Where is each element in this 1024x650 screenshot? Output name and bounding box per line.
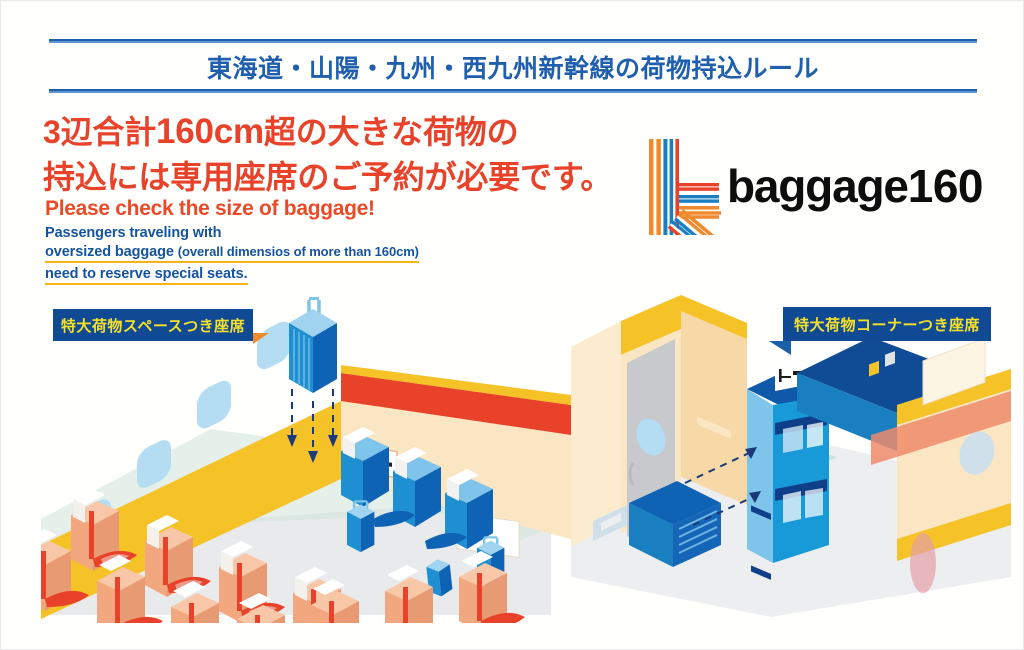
- header-rule-bottom: [49, 89, 977, 93]
- headline-line-1: 3辺合計160cm超の大きな荷物の: [43, 109, 612, 156]
- english-line-2: oversized baggage (overall dimensios of …: [45, 244, 419, 263]
- page-title: 東海道・山陽・九州・西九州新幹線の荷物持込ルール: [1, 49, 1024, 85]
- english-line2-part-b: (overall dimensios of more than 160cm): [178, 244, 419, 259]
- baggage160-logo: [647, 135, 737, 246]
- oversized-suitcase-floating: [289, 297, 337, 393]
- badge-oversized-baggage-space: 特大荷物スペースつき座席: [53, 309, 253, 341]
- english-heading: Please check the size of baggage!: [45, 197, 375, 221]
- logo-number: 160: [908, 160, 983, 212]
- right-wall-stripe: [910, 533, 936, 593]
- baggage160-logo-mark: [647, 135, 737, 241]
- english-line-1: Passengers traveling with: [45, 225, 221, 241]
- headline-line1-part-c: 超の大きな荷物の: [264, 114, 518, 150]
- headline-japanese: 3辺合計160cm超の大きな荷物の 持込には専用座席のご予約が必要です。: [43, 109, 612, 199]
- headline-line-2: 持込には専用座席のご予約が必要です。: [43, 156, 612, 199]
- header-rule-top: [49, 39, 977, 43]
- baggage160-logo-text: baggage160: [727, 159, 983, 213]
- badge-right-label: 特大荷物コーナーつき座席: [794, 314, 980, 335]
- english-line2-part-a: oversized baggage: [45, 244, 178, 260]
- headline-line1-part-b: 160cm: [156, 112, 264, 151]
- badge-right-tail: [769, 341, 791, 355]
- badge-left-label: 特大荷物スペースつき座席: [61, 315, 245, 336]
- badge-oversized-baggage-corner: 特大荷物コーナーつき座席: [783, 307, 991, 341]
- headline-line1-part-a: 3辺合計: [43, 114, 156, 150]
- badge-left-tail: [253, 333, 269, 344]
- poster-canvas: 東海道・山陽・九州・西九州新幹線の荷物持込ルール 3辺合計160cm超の大きな荷…: [0, 0, 1024, 650]
- logo-word: baggage: [727, 160, 908, 212]
